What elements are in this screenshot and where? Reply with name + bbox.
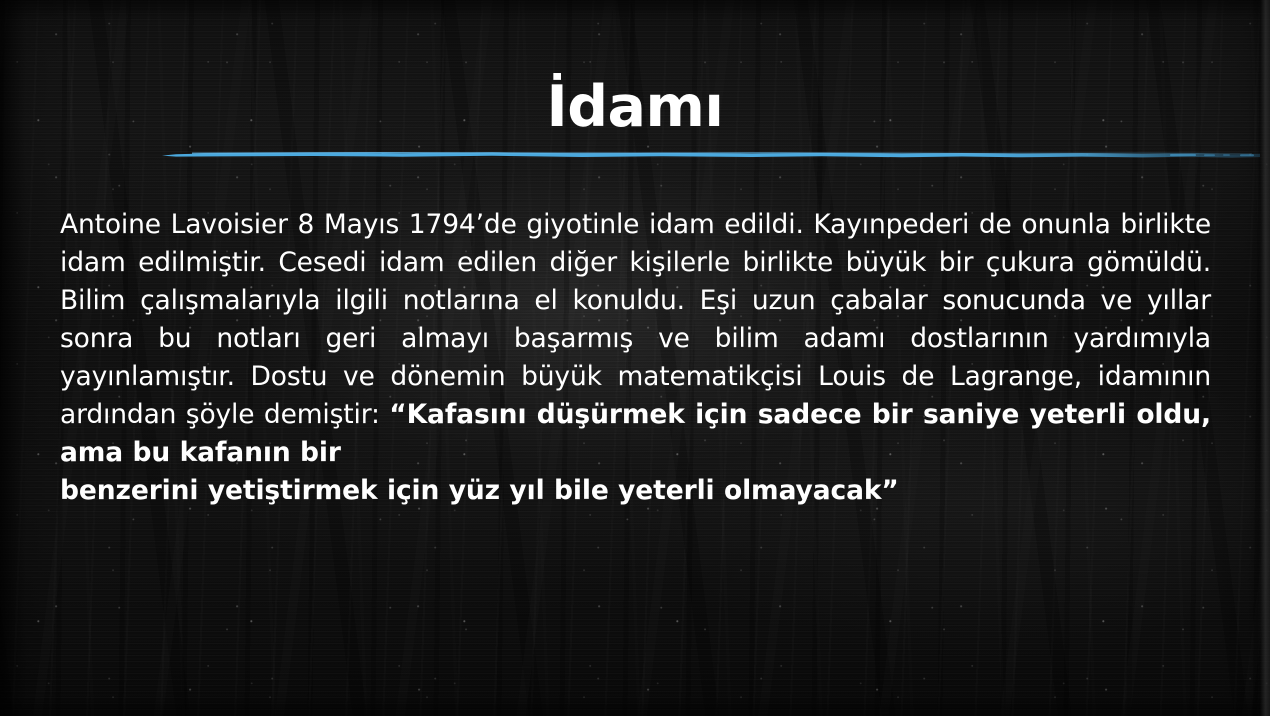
- blue-brush-stroke-icon: [162, 148, 1260, 162]
- lagrange-quote-bold-last: benzerini yetiştirmek için yüz yıl bile …: [60, 472, 1211, 510]
- slide-title: İdamı: [0, 79, 1270, 136]
- paragraph-plain-text: Antoine Lavoisier 8 Mayıs 1794’de giyoti…: [60, 209, 1211, 430]
- title-underline-divider: [162, 148, 1260, 162]
- underline-dash-fragments: [1170, 154, 1254, 156]
- presentation-slide: İdamı: [0, 0, 1270, 716]
- body-paragraph: Antoine Lavoisier 8 Mayıs 1794’de giyoti…: [60, 206, 1211, 510]
